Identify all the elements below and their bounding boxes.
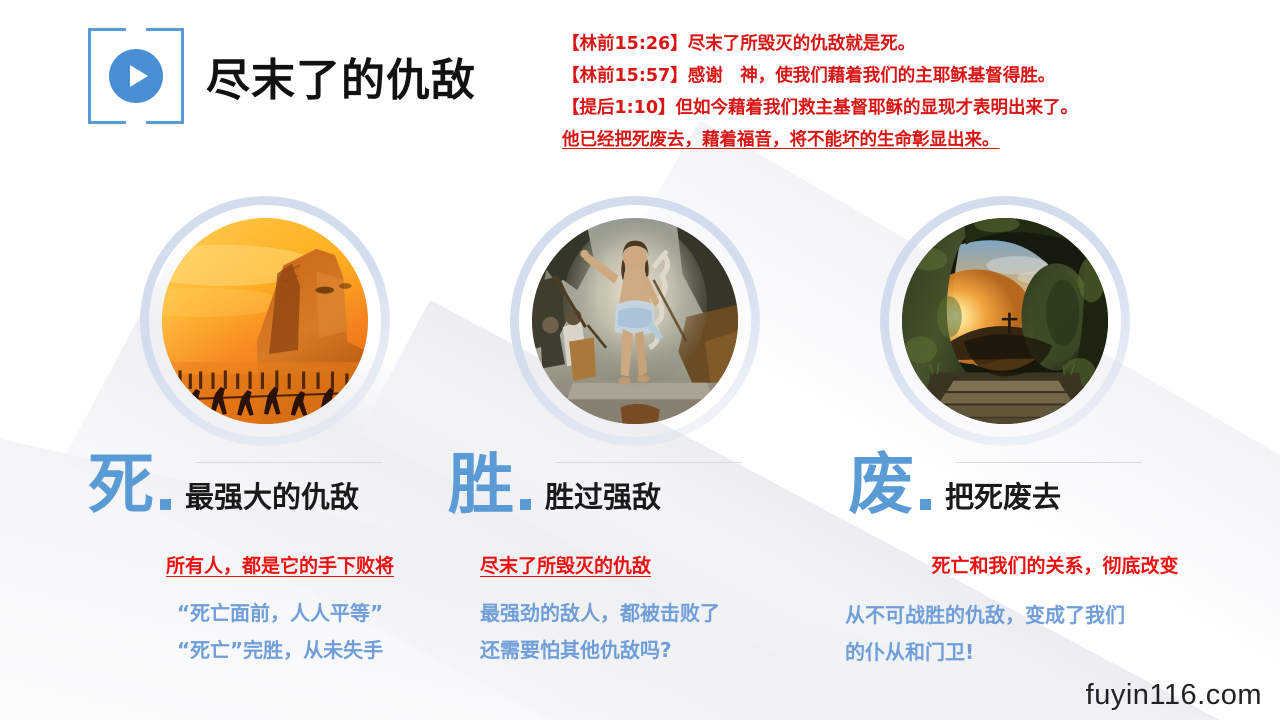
column-blue-line: 从不可战胜的仇敌，变成了我们 xyxy=(845,597,1265,634)
scripture-verse-3a: 【提后1:10】但如今藉着我们救主基督耶稣的显现才表明出来了。 xyxy=(562,94,1268,123)
slide-title-block: 尽末了的仇敌 xyxy=(88,28,476,124)
column-red-heading-2: 尽末了所毁灭的仇敌 xyxy=(480,552,830,581)
image-row xyxy=(0,196,1280,446)
scripture-verse-3b: 他已经把死废去，藉着福音，将不能坏的生命彰显出来。 xyxy=(562,126,1268,155)
headline-3: 废 把死废去 xyxy=(848,452,1061,518)
headline-2: 胜 胜过强敌 xyxy=(448,452,661,518)
scripture-verse-1: 【林前15:26】尽末了所毁灭的仇敌就是死。 xyxy=(562,30,1268,59)
big-char-3: 废 xyxy=(848,452,914,518)
scripture-block: 【林前15:26】尽末了所毁灭的仇敌就是死。 【林前15:57】感谢 神，使我们… xyxy=(562,30,1268,158)
big-char-2: 胜 xyxy=(448,452,514,518)
page-title: 尽末了的仇敌 xyxy=(206,44,476,108)
big-char-1: 死 xyxy=(88,452,154,518)
column-red-heading-3: 死亡和我们的关系，彻底改变 xyxy=(845,552,1265,581)
column-blue-line: 最强劲的敌人，都被击败了 xyxy=(480,595,830,632)
resurrection-painting-photo xyxy=(532,218,738,424)
empty-tomb-sunrise-photo xyxy=(902,218,1108,424)
text-column-1: 所有人，都是它的手下败将 “死亡面前，人人平等” “死亡”完胜，从未失手 xyxy=(95,552,465,669)
play-circle xyxy=(109,49,163,103)
column-blue-line: 的仆从和门卫! xyxy=(845,634,1265,671)
sub-label-1: 最强大的仇敌 xyxy=(185,482,359,518)
scripture-verse-2: 【林前15:57】感谢 神，使我们藉着我们的主耶稣基督得胜。 xyxy=(562,62,1268,91)
column-blue-line: “死亡面前，人人平等” xyxy=(95,595,465,632)
play-triangle-icon xyxy=(130,65,148,87)
site-watermark: fuyin116.com xyxy=(1086,679,1262,712)
sub-label-3: 把死废去 xyxy=(945,482,1061,518)
text-column-3: 死亡和我们的关系，彻底改变 从不可战胜的仇敌，变成了我们 的仆从和门卫! xyxy=(845,552,1265,671)
sphinx-sunset-photo xyxy=(162,218,368,424)
image-circle-3 xyxy=(880,196,1130,446)
column-red-heading-1: 所有人，都是它的手下败将 xyxy=(95,552,465,581)
square-bullet-icon xyxy=(520,499,531,510)
play-icon xyxy=(88,28,184,124)
image-circle-1 xyxy=(140,196,390,446)
square-bullet-icon xyxy=(160,499,171,510)
slide-canvas: 尽末了的仇敌 【林前15:26】尽末了所毁灭的仇敌就是死。 【林前15:57】感… xyxy=(0,0,1280,720)
headline-1: 死 最强大的仇敌 xyxy=(88,452,359,518)
sub-label-2: 胜过强敌 xyxy=(545,482,661,518)
text-column-2: 尽末了所毁灭的仇敌 最强劲的敌人，都被击败了 还需要怕其他仇敌吗? xyxy=(480,552,830,669)
square-bullet-icon xyxy=(920,499,931,510)
image-circle-2 xyxy=(510,196,760,446)
column-blue-line: “死亡”完胜，从未失手 xyxy=(95,632,465,669)
column-blue-line: 还需要怕其他仇敌吗? xyxy=(480,632,830,669)
